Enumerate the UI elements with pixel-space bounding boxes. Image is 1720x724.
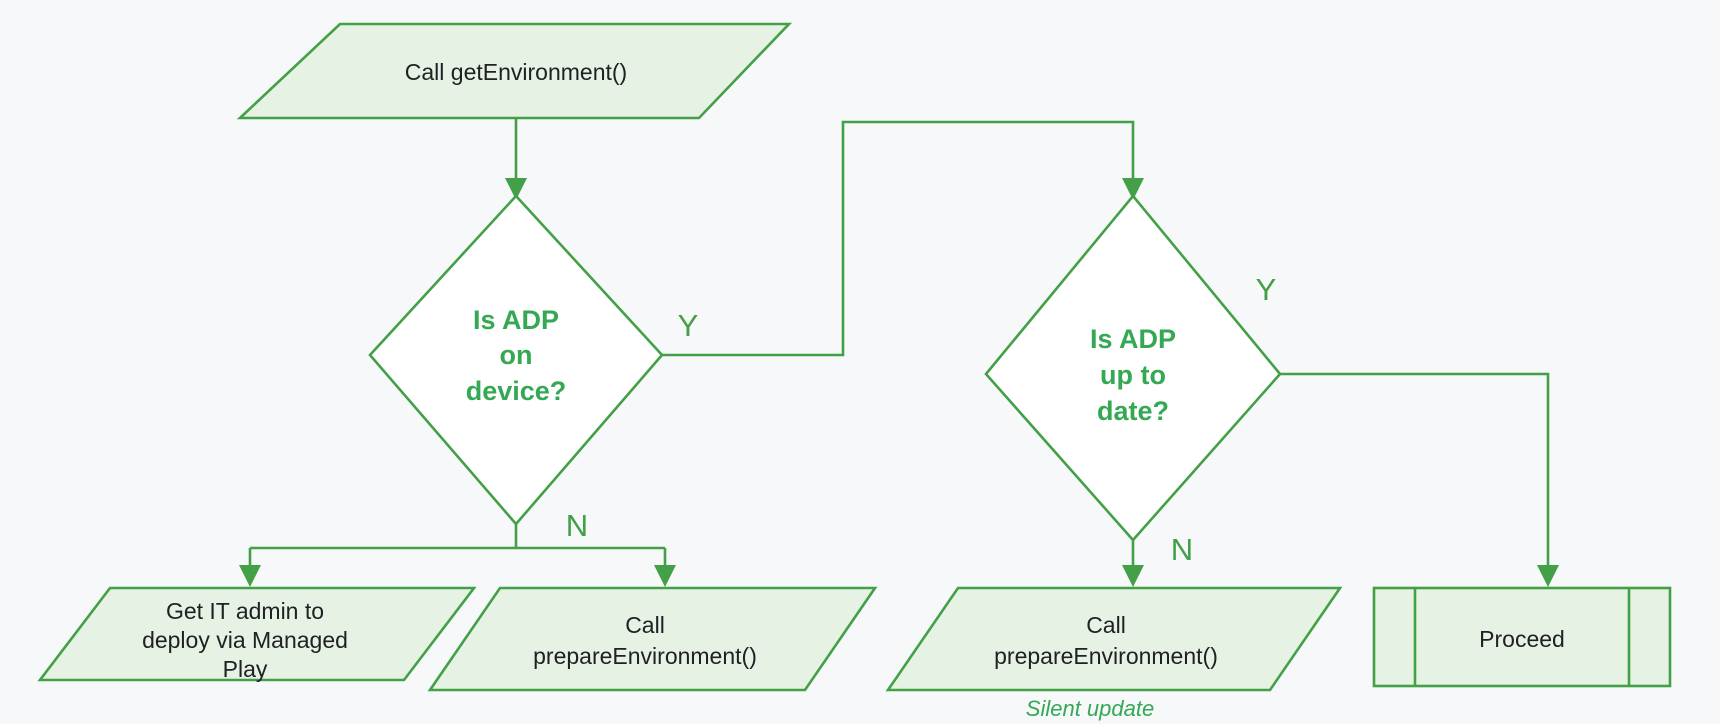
connector-start-to-device-decision bbox=[505, 118, 527, 200]
node-call-prepareenvironment-left[interactable]: Call prepareEnvironment() bbox=[430, 588, 875, 690]
node-label-line3: Play bbox=[223, 656, 268, 682]
node-decision-is-adp-on-device[interactable]: Is ADP on device? bbox=[370, 196, 662, 524]
node-proceed[interactable]: Proceed bbox=[1374, 588, 1670, 686]
node-label-line1: Call bbox=[1086, 612, 1126, 638]
node-label-line1: Call bbox=[625, 612, 665, 638]
node-label-line1: Is ADP bbox=[1090, 324, 1176, 354]
node-label: Call getEnvironment() bbox=[405, 59, 627, 85]
node-label-line1: Get IT admin to bbox=[166, 598, 324, 624]
node-call-prepareenvironment-right[interactable]: Call prepareEnvironment() bbox=[888, 588, 1340, 690]
node-label-line3: device? bbox=[466, 376, 567, 406]
node-decision-is-adp-up-to-date[interactable]: Is ADP up to date? bbox=[986, 196, 1280, 540]
branch-label-device-no: N bbox=[566, 508, 588, 543]
silent-update-caption: Silent update bbox=[1026, 696, 1154, 721]
node-get-it-admin-deploy[interactable]: Get IT admin to deploy via Managed Play bbox=[40, 588, 474, 682]
node-label-line2: prepareEnvironment() bbox=[994, 643, 1218, 669]
node-label-line1: Is ADP bbox=[473, 305, 559, 335]
node-label-line2: prepareEnvironment() bbox=[533, 643, 757, 669]
node-label-line2: on bbox=[500, 340, 533, 370]
node-label-line3: date? bbox=[1097, 396, 1169, 426]
branch-label-device-yes: Y bbox=[678, 308, 699, 343]
flowchart-canvas: Call getEnvironment() Is ADP on device? … bbox=[0, 0, 1720, 724]
node-label-line2: up to bbox=[1100, 360, 1166, 390]
connector-uptodate-yes-to-proceed bbox=[1280, 374, 1559, 587]
flowchart-svg: Call getEnvironment() Is ADP on device? … bbox=[0, 0, 1720, 724]
node-label-line2: deploy via Managed bbox=[142, 627, 348, 653]
node-call-getenvironment[interactable]: Call getEnvironment() bbox=[240, 24, 789, 118]
branch-label-uptodate-yes: Y bbox=[1256, 272, 1277, 307]
connector-device-no-split bbox=[239, 524, 676, 587]
node-label: Proceed bbox=[1479, 626, 1565, 652]
branch-label-uptodate-no: N bbox=[1171, 532, 1193, 567]
